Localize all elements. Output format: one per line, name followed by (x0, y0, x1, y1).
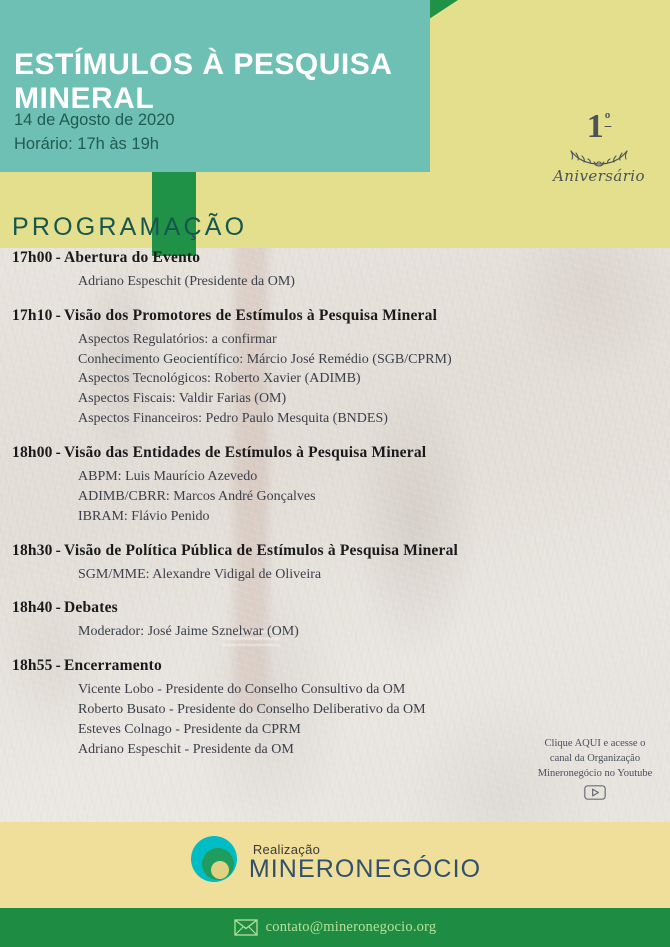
mineronegocio-logo-icon (189, 836, 243, 888)
anniversary-numeral: 1 (587, 108, 605, 145)
list-item: Aspectos Financeiros: Pedro Paulo Mesqui… (78, 409, 670, 429)
footer-contact-bar: contato@mineronegocio.org (0, 908, 670, 947)
list-item: Aspectos Tecnológicos: Roberto Xavier (A… (78, 369, 670, 389)
youtube-cta-line-3: Mineronegócio no Youtube (520, 767, 670, 782)
slot-separator: - (53, 542, 64, 559)
schedule-slot-items: Moderador: José Jaime Sznelwar (OM) (0, 622, 670, 642)
slot-title: Abertura do Evento (64, 249, 200, 266)
list-item: SGM/MME: Alexandre Vidigal de Oliveira (78, 565, 670, 585)
event-datetime: 14 de Agosto de 2020 Horário: 17h às 19h (14, 108, 414, 157)
slot-title: Encerramento (64, 657, 162, 674)
schedule-slot-items: SGM/MME: Alexandre Vidigal de Oliveira (0, 565, 670, 585)
realizacao-label: Realização (253, 843, 481, 856)
program-heading: PROGRAMAÇÃO (12, 213, 247, 242)
list-item: ABPM: Luis Maurício Azevedo (78, 467, 670, 487)
anniversary-ordinal-mark: º (605, 110, 612, 129)
schedule-slot-header: 17h00-Abertura do Evento (0, 248, 670, 269)
slot-separator: - (53, 444, 64, 461)
brand-name: MINERONEGÓCIO (249, 857, 481, 882)
schedule-slot: 18h30-Visão de Política Pública de Estím… (0, 541, 670, 585)
list-item: Adriano Espeschit (Presidente da OM) (78, 272, 670, 292)
schedule-slot-header: 18h00-Visão das Entidades de Estímulos à… (0, 443, 670, 464)
event-time: Horário: 17h às 19h (14, 132, 414, 156)
slot-time: 18h30 (12, 542, 53, 559)
schedule-slot-header: 18h40-Debates (0, 598, 670, 619)
list-item: Vicente Lobo - Presidente do Conselho Co… (78, 680, 670, 700)
slot-time: 17h00 (12, 249, 53, 266)
schedule-slot-header: 17h10-Visão dos Promotores de Estímulos … (0, 306, 670, 327)
list-item: Aspectos Regulatórios: a confirmar (78, 330, 670, 350)
schedule-slot-items: Aspectos Regulatórios: a confirmar Conhe… (0, 330, 670, 429)
event-poster: ESTÍMULOS À PESQUISA MINERAL 14 de Agost… (0, 0, 670, 947)
list-item: Moderador: José Jaime Sznelwar (OM) (78, 622, 670, 642)
list-item: IBRAM: Flávio Penido (78, 507, 670, 527)
program-schedule: 17h00-Abertura do Evento Adriano Espesch… (0, 248, 670, 774)
slot-time: 18h00 (12, 444, 53, 461)
slot-time: 17h10 (12, 307, 53, 324)
slot-title: Visão de Política Pública de Estímulos à… (64, 542, 458, 559)
list-item: Roberto Busato - Presidente do Conselho … (78, 700, 670, 720)
schedule-slot: 18h00-Visão das Entidades de Estímulos à… (0, 443, 670, 527)
brand-text-block: Realização MINERONEGÓCIO (249, 843, 481, 882)
contact-email[interactable]: contato@mineronegocio.org (266, 919, 437, 936)
slot-separator: - (53, 307, 64, 324)
slot-time: 18h55 (12, 657, 53, 674)
slot-separator: - (53, 249, 64, 266)
youtube-cta-icon-wrap[interactable] (520, 785, 670, 806)
schedule-slot: 17h00-Abertura do Evento Adriano Espesch… (0, 248, 670, 292)
youtube-cta-line-1: Clique AQUI e acesse o (520, 737, 670, 752)
play-button-icon[interactable] (584, 785, 606, 800)
list-item: ADIMB/CBRR: Marcos André Gonçalves (78, 487, 670, 507)
schedule-slot-items: Adriano Espeschit (Presidente da OM) (0, 272, 670, 292)
slot-separator: - (53, 657, 64, 674)
schedule-slot-header: 18h55-Encerramento (0, 656, 670, 677)
brand-block: Realização MINERONEGÓCIO (0, 836, 670, 888)
event-date: 14 de Agosto de 2020 (14, 108, 414, 132)
slot-title: Visão das Entidades de Estímulos à Pesqu… (64, 444, 426, 461)
slot-time: 18h40 (12, 599, 53, 616)
anniversary-badge: 1º Aniversário (540, 110, 658, 185)
schedule-slot: 17h10-Visão dos Promotores de Estímulos … (0, 306, 670, 429)
youtube-channel-cta[interactable]: Clique AQUI e acesse o canal da Organiza… (520, 737, 670, 806)
slot-title: Visão dos Promotores de Estímulos à Pesq… (64, 307, 437, 324)
anniversary-number: 1º (540, 110, 658, 144)
schedule-slot-items: ABPM: Luis Maurício Azevedo ADIMB/CBRR: … (0, 467, 670, 527)
schedule-slot: 18h40-Debates Moderador: José Jaime Szne… (0, 598, 670, 642)
schedule-slot-header: 18h30-Visão de Política Pública de Estím… (0, 541, 670, 562)
anniversary-label: Aniversário (540, 167, 658, 185)
slot-title: Debates (64, 599, 118, 616)
laurel-wreath-icon (558, 142, 640, 168)
youtube-cta-line-2: canal da Organização (520, 752, 670, 767)
envelope-icon (234, 919, 258, 936)
list-item: Conhecimento Geocientífico: Márcio José … (78, 350, 670, 370)
list-item: Aspectos Fiscais: Valdir Farias (OM) (78, 389, 670, 409)
slot-separator: - (53, 599, 64, 616)
page-title: ESTÍMULOS À PESQUISA MINERAL (14, 48, 424, 115)
